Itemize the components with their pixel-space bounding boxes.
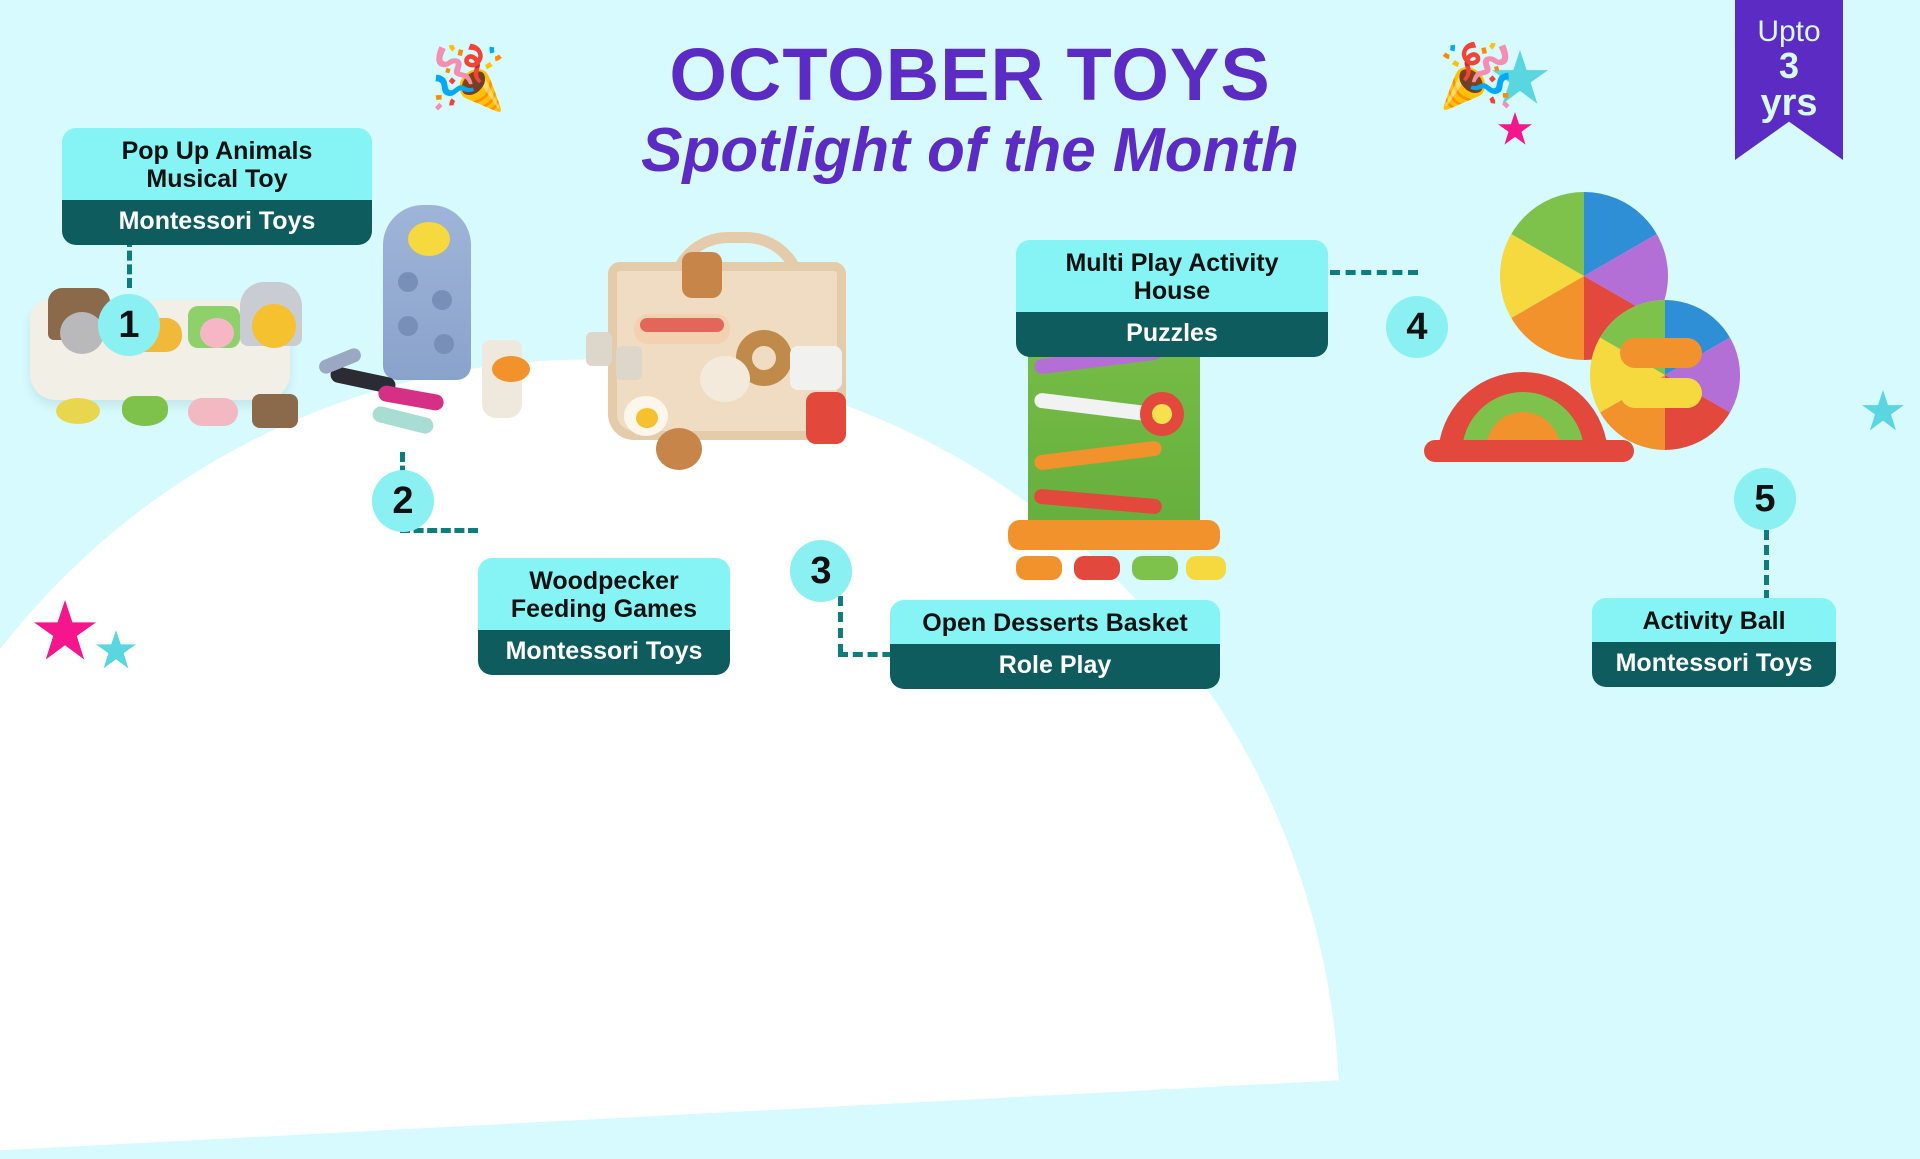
age-badge-number: 3	[1779, 48, 1799, 84]
number-circle-4: 4	[1386, 296, 1448, 358]
age-badge-upto: Upto	[1757, 16, 1820, 48]
age-badge: Upto 3 yrs	[1735, 0, 1843, 160]
callout-5-category: Montessori Toys	[1592, 642, 1836, 687]
star-pink-top-right	[1498, 112, 1532, 146]
callout-4-category: Puzzles	[1016, 312, 1328, 357]
number-circle-3: 3	[790, 540, 852, 602]
title-subtitle: Spotlight of the Month	[520, 118, 1420, 183]
callout-5-name: Activity Ball	[1592, 598, 1836, 642]
number-circle-2: 2	[372, 470, 434, 532]
callout-5[interactable]: Activity Ball Montessori Toys	[1592, 598, 1836, 687]
callout-3-category: Role Play	[890, 644, 1220, 689]
callout-4-name: Multi Play Activity House	[1016, 240, 1328, 312]
number-circle-5: 5	[1734, 468, 1796, 530]
callout-2-category: Montessori Toys	[478, 630, 730, 675]
star-cyan-mid-right	[1862, 390, 1904, 432]
callout-1-category: Montessori Toys	[62, 200, 372, 245]
callout-3[interactable]: Open Desserts Basket Role Play	[890, 600, 1220, 689]
title-main: OCTOBER TOYS	[520, 38, 1420, 112]
number-circle-1: 1	[98, 294, 160, 356]
callout-2-name: Woodpecker Feeding Games	[478, 558, 730, 630]
callout-1-name: Pop Up Animals Musical Toy	[62, 128, 372, 200]
age-badge-unit: yrs	[1760, 84, 1817, 122]
banner-root: 🎉 🎉 OCTOBER TOYS Spotlight of the Month …	[0, 0, 1920, 700]
callout-4[interactable]: Multi Play Activity House Puzzles	[1016, 240, 1328, 357]
callout-3-name: Open Desserts Basket	[890, 600, 1220, 644]
party-popper-icon-right: 🎉	[1438, 46, 1515, 108]
connector-4	[1330, 270, 1418, 275]
page-title: 🎉 🎉 OCTOBER TOYS Spotlight of the Month	[520, 38, 1420, 183]
callout-1[interactable]: Pop Up Animals Musical Toy Montessori To…	[62, 128, 372, 245]
callout-2[interactable]: Woodpecker Feeding Games Montessori Toys	[478, 558, 730, 675]
connector-5	[1764, 530, 1769, 600]
party-popper-icon-left: 🎉	[430, 48, 507, 110]
